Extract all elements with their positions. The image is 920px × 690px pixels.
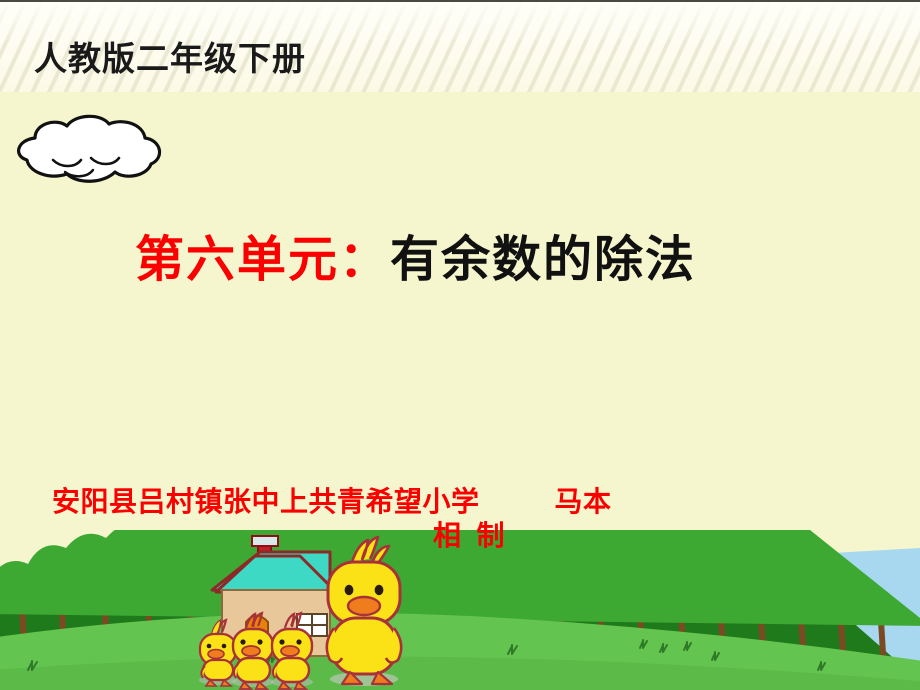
slide-header-band: 人教版二年级下册 [0,2,920,92]
header-textbook-label: 人教版二年级下册 [34,32,306,80]
slide-main-title: 第六单元：有余数的除法 [135,220,696,291]
title-unit-text: 第六单元： [135,232,390,287]
title-topic-text: 有余数的除法 [390,232,696,287]
cloud-icon [5,110,173,188]
landscape-illustration [0,530,920,690]
presentation-slide: 人教版二年级下册 第六单元：有余数的除法 安阳县吕村镇张中上共青希望小学 马本 … [0,0,920,690]
credit-author-line: 相 制 [0,514,920,554]
